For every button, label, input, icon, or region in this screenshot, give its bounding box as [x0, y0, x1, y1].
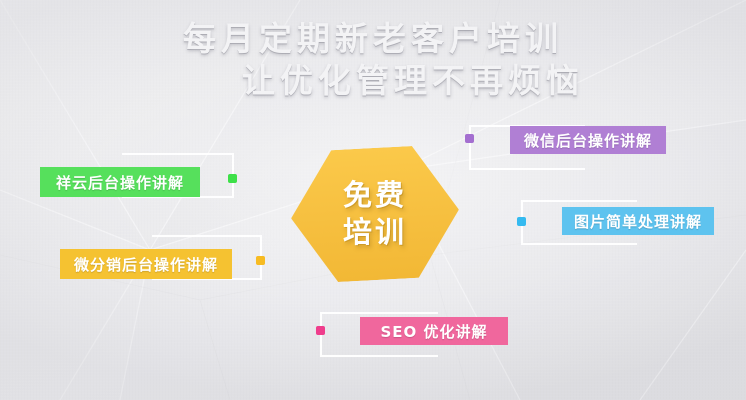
- connector-dot-seo: [316, 326, 325, 335]
- connector-dot-weifenxiao: [256, 256, 265, 265]
- connector-dot-xiangyun: [228, 174, 237, 183]
- topic-chip-weifenxiao[interactable]: 微分销后台操作讲解: [60, 249, 232, 279]
- promo-banner: 每月定期新老客户培训 让优化管理不再烦恼 祥云后台操作讲解 微分销后台操作讲解 …: [0, 0, 746, 400]
- center-hexagon[interactable]: 免费 培训: [288, 144, 463, 285]
- topic-label-weifenxiao: 微分销后台操作讲解: [74, 254, 218, 275]
- topic-label-xiangyun: 祥云后台操作讲解: [56, 172, 184, 193]
- topic-chip-seo[interactable]: SEO 优化讲解: [360, 317, 508, 345]
- connector-dot-weixin: [465, 134, 474, 143]
- topic-chip-weixin[interactable]: 微信后台操作讲解: [510, 126, 666, 154]
- topic-label-tupian: 图片简单处理讲解: [574, 211, 702, 232]
- hexagon-text: 免费 培训: [291, 148, 459, 280]
- connector-dot-tupian: [517, 217, 526, 226]
- hexagon-line-2: 培训: [343, 214, 407, 251]
- topic-label-weixin: 微信后台操作讲解: [524, 130, 652, 151]
- topic-chip-xiangyun[interactable]: 祥云后台操作讲解: [40, 167, 200, 197]
- topic-label-seo: SEO 优化讲解: [380, 321, 487, 342]
- topic-chip-tupian[interactable]: 图片简单处理讲解: [562, 207, 714, 235]
- hexagon-line-1: 免费: [343, 177, 407, 214]
